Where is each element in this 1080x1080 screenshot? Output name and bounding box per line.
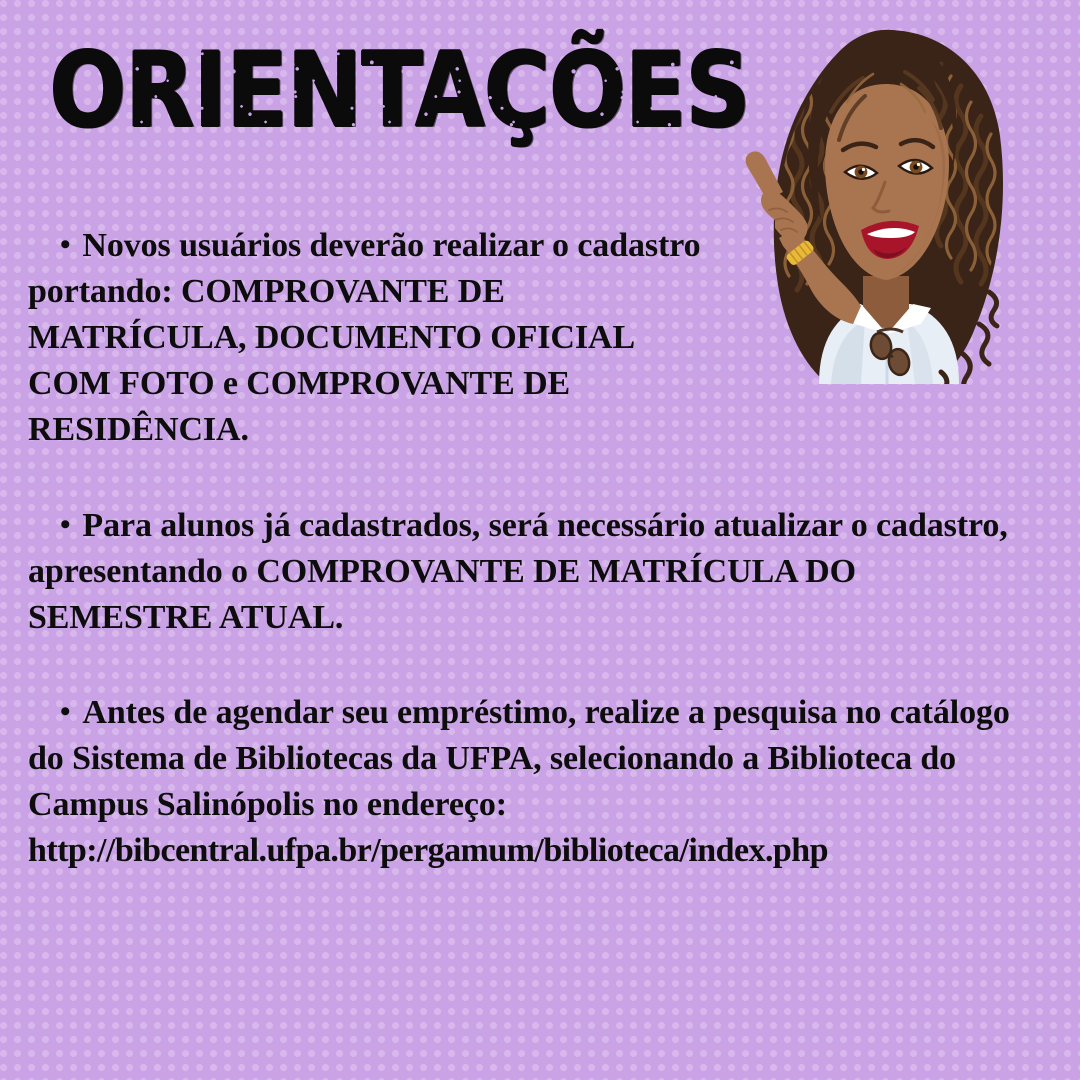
hair-front-light-highlights bbox=[847, 74, 925, 112]
bullet-item-text: Novos usuários deverão realizar o cadast… bbox=[28, 227, 701, 448]
poster-canvas: ORIENTAÇÕES bbox=[0, 0, 1080, 1080]
hair-front-highlights bbox=[831, 72, 941, 140]
index-finger bbox=[746, 151, 783, 200]
title-block: ORIENTAÇÕES bbox=[0, 36, 800, 146]
page-title: ORIENTAÇÕES bbox=[50, 39, 750, 143]
eye-right bbox=[899, 160, 932, 174]
bullet-item-pesquisa-catalogo: •Antes de agendar seu empréstimo, realiz… bbox=[28, 689, 1038, 828]
bullet-glyph: • bbox=[60, 222, 70, 268]
eye-left bbox=[845, 166, 877, 179]
hair-front bbox=[808, 30, 957, 220]
bullet-glyph: • bbox=[60, 502, 70, 548]
bullet-glyph: • bbox=[60, 689, 70, 735]
bullet-item-text: Para alunos já cadastrados, será necessá… bbox=[28, 507, 1008, 636]
catalog-url[interactable]: http://bibcentral.ufpa.br/pergamum/bibli… bbox=[28, 828, 1048, 874]
eyebrows bbox=[843, 140, 933, 150]
bullet-item-alunos-cadastrados: •Para alunos já cadastrados, será necess… bbox=[28, 502, 1038, 641]
nose bbox=[873, 182, 889, 212]
bullet-item-text: Antes de agendar seu empréstimo, realize… bbox=[28, 694, 1010, 823]
body-text-block: •Novos usuários deverão realizar o cadas… bbox=[28, 222, 1048, 874]
bullet-item-novos-usuarios: •Novos usuários deverão realizar o cadas… bbox=[28, 222, 718, 453]
